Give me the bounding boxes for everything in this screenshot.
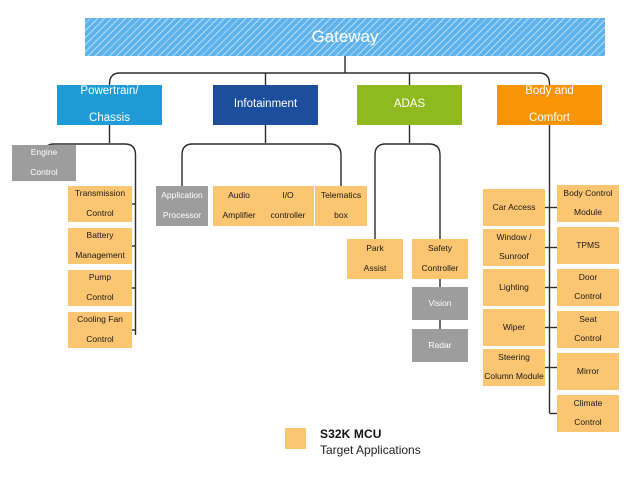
node-body-and-comfort-label: Body and Comfort: [497, 85, 602, 125]
node-audio-amplifier[interactable]: AudioAmplifier: [213, 186, 265, 226]
legend: S32K MCU Target Applications: [285, 428, 421, 457]
node-car-access-label: Car Access: [483, 203, 545, 213]
node-body-control-module-label: Body ControlModule: [557, 189, 619, 218]
node-battery-management-label: BatteryManagement: [68, 231, 132, 260]
node-adas-label: ADAS: [357, 98, 462, 111]
label-line-1: Body Control: [557, 189, 619, 199]
label-line-2: controller: [262, 211, 314, 221]
node-infotainment[interactable]: Infotainment: [213, 85, 318, 125]
label-line-2: Module: [557, 208, 619, 218]
node-park-assist-label: ParkAssist: [347, 244, 403, 273]
label-line-1: Window /: [483, 233, 545, 243]
label-line-2: Control: [68, 209, 132, 219]
node-climate-control-label: ClimateControl: [557, 399, 619, 428]
legend-text: S32K MCU Target Applications: [320, 427, 421, 457]
label-line-2: Control: [68, 335, 132, 345]
node-mirror-label: Mirror: [557, 367, 619, 377]
node-battery-management[interactable]: BatteryManagement: [68, 228, 132, 264]
legend-title: S32K MCU: [320, 427, 421, 441]
node-audio-amplifier-label: AudioAmplifier: [213, 191, 265, 220]
node-lighting-label: Lighting: [483, 283, 545, 293]
label-line-2: Control: [68, 293, 132, 303]
node-adas[interactable]: ADAS: [357, 85, 462, 125]
node-seat-control-label: SeatControl: [557, 315, 619, 344]
label-line-2: Controller: [412, 264, 468, 274]
label-line-2: Sunroof: [483, 252, 545, 262]
node-tpms[interactable]: TPMS: [557, 227, 619, 264]
label-line-1: Telematics: [315, 191, 367, 201]
label-line-1: Cooling Fan: [68, 315, 132, 325]
label-line-1: Mirror: [557, 367, 619, 377]
label-line-2: Control: [12, 168, 76, 178]
node-cooling-fan-control-label: Cooling FanControl: [68, 315, 132, 344]
label-line-1: Vision: [412, 299, 468, 309]
node-engine-control-label: EngineControl: [12, 148, 76, 177]
block-diagram: Gateway Powertrain/ Chassis Infotainment…: [0, 0, 642, 485]
label-line-1: Safety: [412, 244, 468, 254]
label-line-2: Processor: [156, 211, 208, 221]
label-line-2: Comfort: [497, 112, 602, 125]
node-seat-control[interactable]: SeatControl: [557, 311, 619, 348]
node-window-sunroof-label: Window /Sunroof: [483, 233, 545, 262]
node-engine-control[interactable]: EngineControl: [12, 145, 76, 181]
label-line-2: Chassis: [57, 112, 162, 125]
label-line-2: Control: [557, 418, 619, 428]
node-door-control[interactable]: DoorControl: [557, 269, 619, 306]
label-line-1: Lighting: [483, 283, 545, 293]
label-line-1: Battery: [68, 231, 132, 241]
node-wiper-label: Wiper: [483, 323, 545, 333]
node-wiper[interactable]: Wiper: [483, 309, 545, 346]
label-line-2: Column Module: [483, 372, 545, 382]
label-line-2: Assist: [347, 264, 403, 274]
label-line-1: Seat: [557, 315, 619, 325]
label-line-1: Door: [557, 273, 619, 283]
label-line-1: Car Access: [483, 203, 545, 213]
label-line-2: Management: [68, 251, 132, 261]
node-cooling-fan-control[interactable]: Cooling FanControl: [68, 312, 132, 348]
node-park-assist[interactable]: ParkAssist: [347, 239, 403, 279]
label-line-2: box: [315, 211, 367, 221]
node-powertrain-chassis-label: Powertrain/ Chassis: [57, 85, 162, 125]
label-line-1: Park: [347, 244, 403, 254]
label-line-1: I/O: [262, 191, 314, 201]
label-line-1: Audio: [213, 191, 265, 201]
legend-subtitle: Target Applications: [320, 443, 421, 457]
node-telematics-box-label: Telematicsbox: [315, 191, 367, 220]
node-telematics-box[interactable]: Telematicsbox: [315, 186, 367, 226]
node-io-controller-label: I/Ocontroller: [262, 191, 314, 220]
node-safety-controller-label: SafetyController: [412, 244, 468, 273]
node-radar-label: Radar: [412, 341, 468, 351]
node-application-processor[interactable]: ApplicationProcessor: [156, 186, 208, 226]
label-line-1: Wiper: [483, 323, 545, 333]
node-vision[interactable]: Vision: [412, 287, 468, 320]
node-body-control-module[interactable]: Body ControlModule: [557, 185, 619, 222]
node-infotainment-label: Infotainment: [213, 98, 318, 111]
label-line-1: Engine: [12, 148, 76, 158]
label-line-1: Pump: [68, 273, 132, 283]
label-line-2: Amplifier: [213, 211, 265, 221]
node-gateway[interactable]: Gateway: [85, 18, 605, 56]
node-climate-control[interactable]: ClimateControl: [557, 395, 619, 432]
legend-swatch-s32k: [285, 428, 306, 449]
node-lighting[interactable]: Lighting: [483, 269, 545, 306]
node-window-sunroof[interactable]: Window /Sunroof: [483, 229, 545, 266]
node-application-processor-label: ApplicationProcessor: [156, 191, 208, 220]
node-vision-label: Vision: [412, 299, 468, 309]
node-pump-control[interactable]: PumpControl: [68, 270, 132, 306]
node-safety-controller[interactable]: SafetyController: [412, 239, 468, 279]
node-door-control-label: DoorControl: [557, 273, 619, 302]
label-line-2: Control: [557, 334, 619, 344]
node-transmission-control-label: TransmissionControl: [68, 189, 132, 218]
label-line-1: Application: [156, 191, 208, 201]
label-line-1: TPMS: [557, 241, 619, 251]
node-body-and-comfort[interactable]: Body and Comfort: [497, 85, 602, 125]
node-car-access[interactable]: Car Access: [483, 189, 545, 226]
node-steering-column-module[interactable]: SteeringColumn Module: [483, 349, 545, 386]
label-line-1: Transmission: [68, 189, 132, 199]
node-radar[interactable]: Radar: [412, 329, 468, 362]
node-steering-column-module-label: SteeringColumn Module: [483, 353, 545, 382]
label-line-1: Steering: [483, 353, 545, 363]
node-tpms-label: TPMS: [557, 241, 619, 251]
label-line-1: Powertrain/: [57, 85, 162, 98]
node-pump-control-label: PumpControl: [68, 273, 132, 302]
node-gateway-label: Gateway: [85, 27, 605, 47]
node-io-controller[interactable]: I/Ocontroller: [262, 186, 314, 226]
label-line-2: Control: [557, 292, 619, 302]
label-line-1: Radar: [412, 341, 468, 351]
node-mirror[interactable]: Mirror: [557, 353, 619, 390]
label-line-1: Body and: [497, 85, 602, 98]
label-line-1: Climate: [557, 399, 619, 409]
node-transmission-control[interactable]: TransmissionControl: [68, 186, 132, 222]
node-powertrain-chassis[interactable]: Powertrain/ Chassis: [57, 85, 162, 125]
